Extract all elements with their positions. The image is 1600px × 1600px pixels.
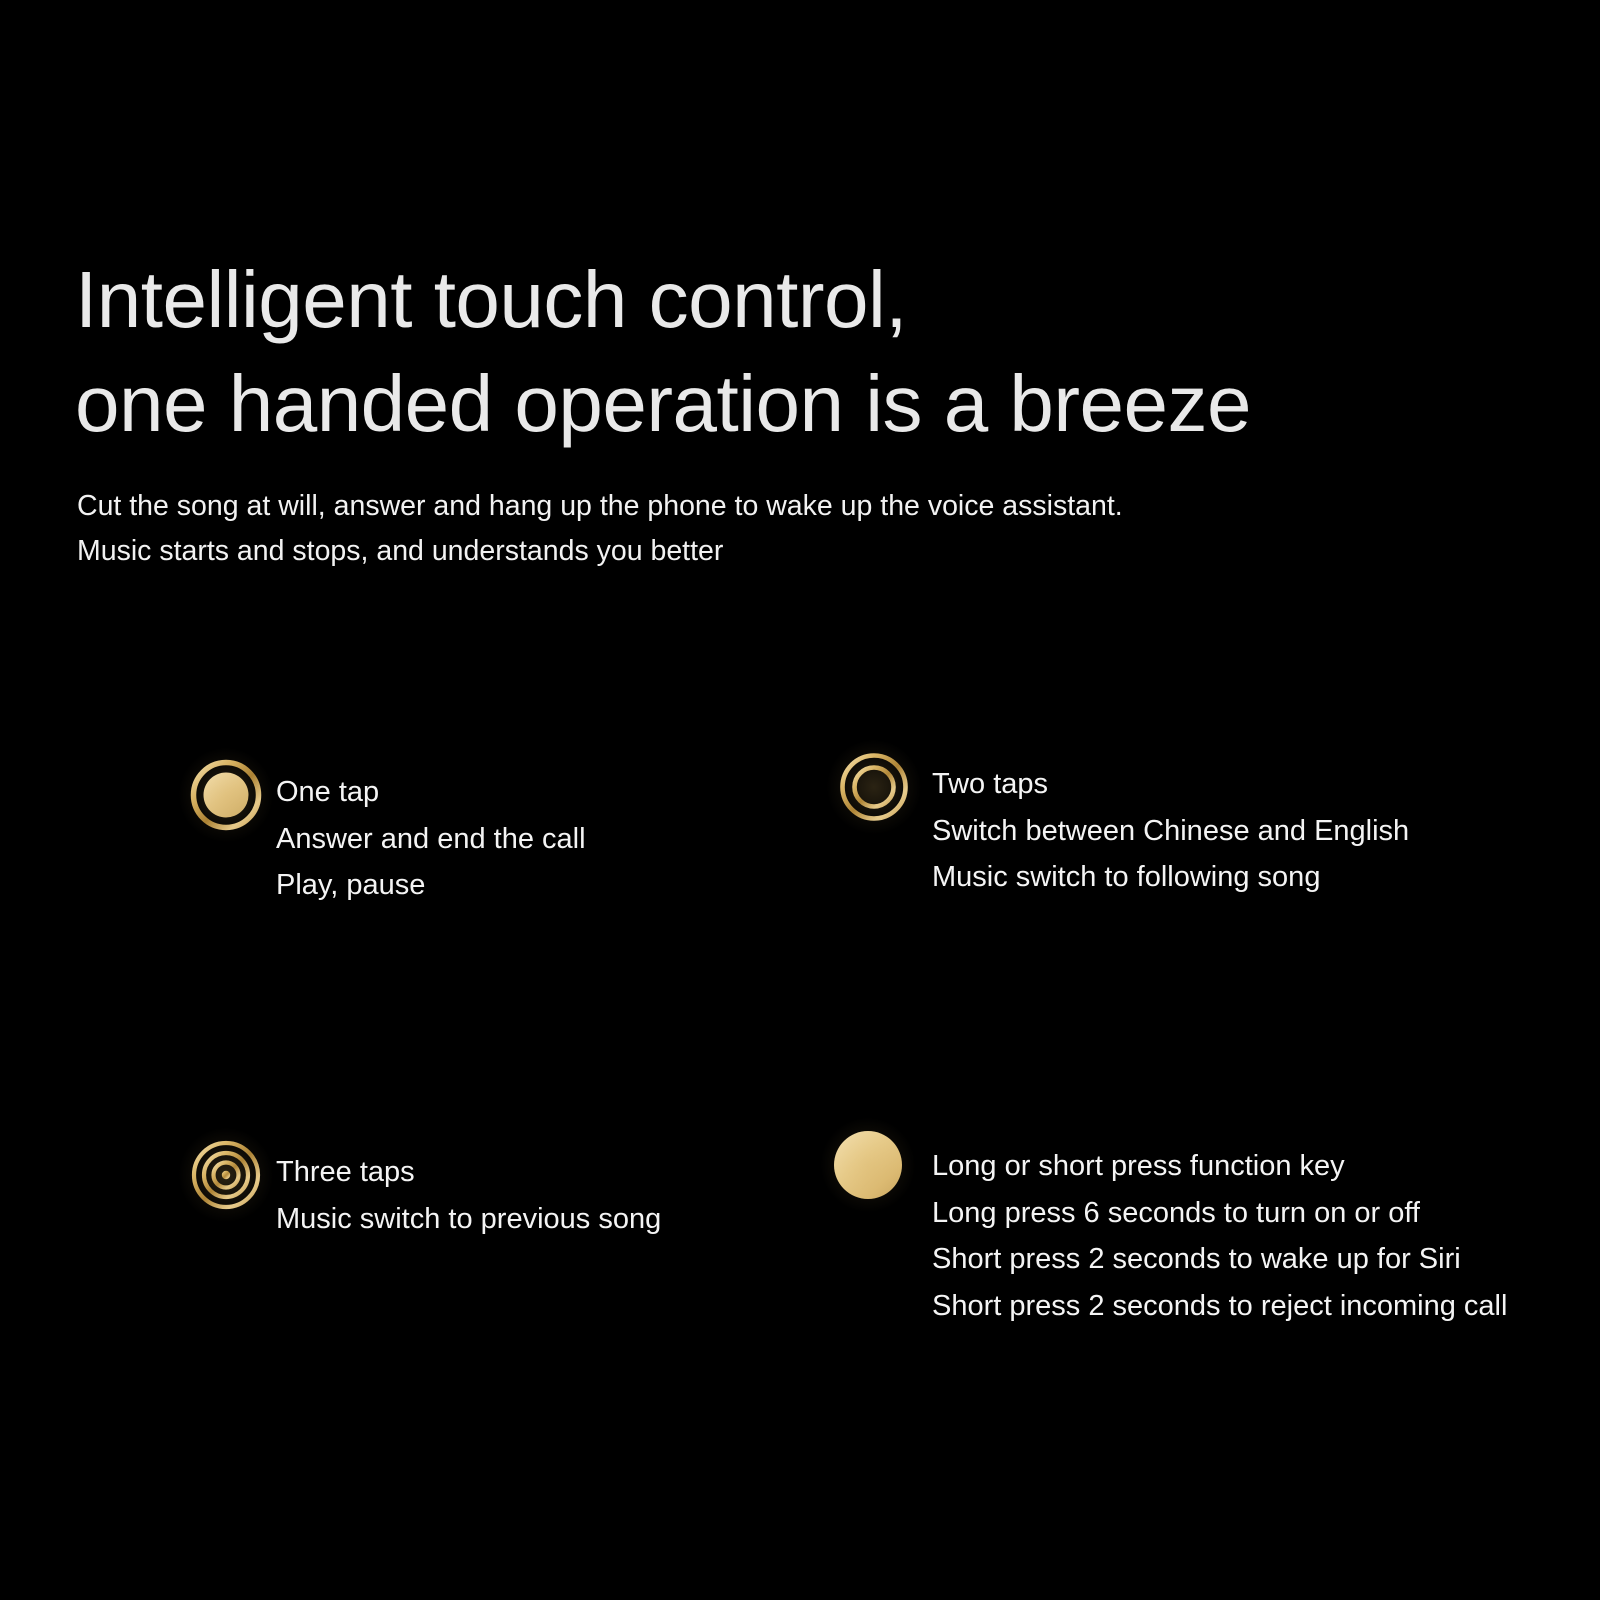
feature-title: One tap — [276, 769, 586, 816]
feature-desc-1: Music switch to previous song — [276, 1196, 661, 1243]
feature-desc-2: Music switch to following song — [932, 854, 1409, 901]
feature-grid: One tap Answer and end the call Play, pa… — [0, 735, 1600, 1435]
feature-item-two-taps: Two taps Switch between Chinese and Engl… — [838, 747, 1538, 901]
feature-item-three-taps: Three taps Music switch to previous song — [190, 1135, 810, 1242]
feature-text-three-taps: Three taps Music switch to previous song — [276, 1135, 661, 1242]
feature-desc-2: Short press 2 seconds to wake up for Sir… — [932, 1236, 1507, 1283]
headline-line-2: one handed operation is a breeze — [75, 352, 1495, 456]
feature-desc-3: Short press 2 seconds to reject incoming… — [932, 1283, 1507, 1330]
feature-title: Three taps — [276, 1149, 661, 1196]
subtitle-line-1: Cut the song at will, answer and hang up… — [77, 484, 1377, 529]
feature-text-function-key: Long or short press function key Long pr… — [932, 1125, 1507, 1329]
three-taps-bullseye-icon — [190, 1139, 262, 1211]
one-tap-ring-filled-icon — [190, 759, 262, 831]
feature-title: Long or short press function key — [932, 1143, 1507, 1190]
page-title: Intelligent touch control, one handed op… — [75, 248, 1495, 456]
feature-item-one-tap: One tap Answer and end the call Play, pa… — [190, 755, 810, 909]
feature-item-function-key: Long or short press function key Long pr… — [832, 1125, 1552, 1329]
feature-text-two-taps: Two taps Switch between Chinese and Engl… — [932, 747, 1409, 901]
subtitle-line-2: Music starts and stops, and understands … — [77, 529, 1377, 574]
two-taps-double-ring-icon — [838, 751, 910, 823]
headline-line-1: Intelligent touch control, — [75, 248, 1495, 352]
page-subtitle: Cut the song at will, answer and hang up… — [77, 484, 1377, 574]
function-key-solid-disc-icon — [832, 1129, 904, 1201]
feature-desc-1: Long press 6 seconds to turn on or off — [932, 1190, 1507, 1237]
feature-desc-2: Play, pause — [276, 862, 586, 909]
feature-desc-1: Answer and end the call — [276, 816, 586, 863]
feature-desc-1: Switch between Chinese and English — [932, 808, 1409, 855]
promo-page: Intelligent touch control, one handed op… — [0, 0, 1600, 1600]
feature-title: Two taps — [932, 761, 1409, 808]
feature-text-one-tap: One tap Answer and end the call Play, pa… — [276, 755, 586, 909]
